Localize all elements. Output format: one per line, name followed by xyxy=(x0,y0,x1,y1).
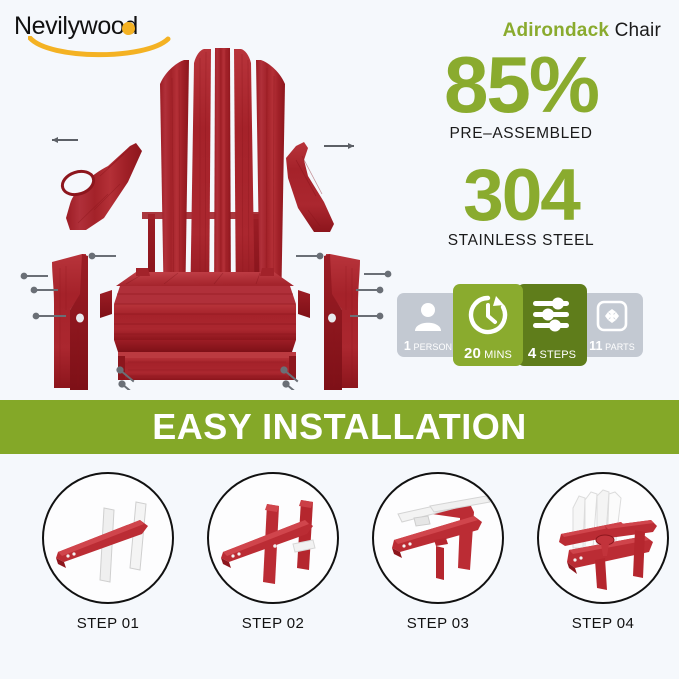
arrow-left-armrest xyxy=(52,137,78,143)
stat-stainless-steel-number: 304 xyxy=(371,162,671,229)
stat-pre-assembled-number: 85% xyxy=(371,48,671,122)
step-4-label: STEP 04 xyxy=(528,615,678,632)
part-right-side-leg-panel xyxy=(324,254,360,390)
step-item-3: STEP 03 xyxy=(363,472,513,632)
step-4-illustration xyxy=(537,472,669,604)
product-family: Adirondack xyxy=(503,20,610,41)
step-3-label: STEP 03 xyxy=(363,615,513,632)
badge-steps: 4 STEPS xyxy=(517,284,587,366)
step-1-label: STEP 01 xyxy=(33,615,183,632)
part-left-armrest-cupholder xyxy=(59,143,142,230)
sliders-icon xyxy=(517,284,587,346)
exploded-parts-diagram xyxy=(8,18,408,390)
stat-stainless-steel-label: STAINLESS STEEL xyxy=(371,232,671,250)
badge-parts-caption: 11 PARTS xyxy=(589,340,635,353)
spec-badge-group: 1 PERSON 20 MINS xyxy=(397,284,647,366)
part-front-apron-beam xyxy=(118,352,296,380)
part-right-armrest xyxy=(286,142,334,232)
puzzle-icon xyxy=(581,293,643,340)
badge-person-caption: 1 PERSON xyxy=(404,340,452,353)
step-item-1: STEP 01 xyxy=(33,472,183,632)
part-seat-assembly xyxy=(100,268,310,352)
step-item-2: STEP 02 xyxy=(198,472,348,632)
easy-installation-banner: EASY INSTALLATION xyxy=(0,400,679,454)
arrow-right-armrest xyxy=(324,143,354,149)
clock-icon xyxy=(453,284,523,346)
step-3-illustration xyxy=(372,472,504,604)
product-infographic: Nevilywood Adirondack Chair 85% PRE–ASSE… xyxy=(0,0,679,679)
badge-time: 20 MINS xyxy=(453,284,523,366)
stat-pre-assembled: 85% PRE–ASSEMBLED xyxy=(371,48,671,143)
part-left-side-leg-panel xyxy=(52,254,88,390)
stat-pre-assembled-label: PRE–ASSEMBLED xyxy=(371,125,671,143)
stat-stainless-steel: 304 STAINLESS STEEL xyxy=(371,162,671,250)
product-type: Chair xyxy=(615,20,661,41)
badge-time-caption: 20 MINS xyxy=(464,346,512,361)
badge-parts: 11 PARTS xyxy=(581,293,643,357)
step-2-label: STEP 02 xyxy=(198,615,348,632)
step-1-illustration xyxy=(42,472,174,604)
banner-text: EASY INSTALLATION xyxy=(152,406,527,448)
badge-steps-caption: 4 STEPS xyxy=(528,346,576,361)
installation-steps: STEP 01 STEP 02 xyxy=(0,472,679,662)
page-title: Adirondack Chair xyxy=(503,20,661,42)
step-2-illustration xyxy=(207,472,339,604)
step-item-4: STEP 04 xyxy=(528,472,678,632)
